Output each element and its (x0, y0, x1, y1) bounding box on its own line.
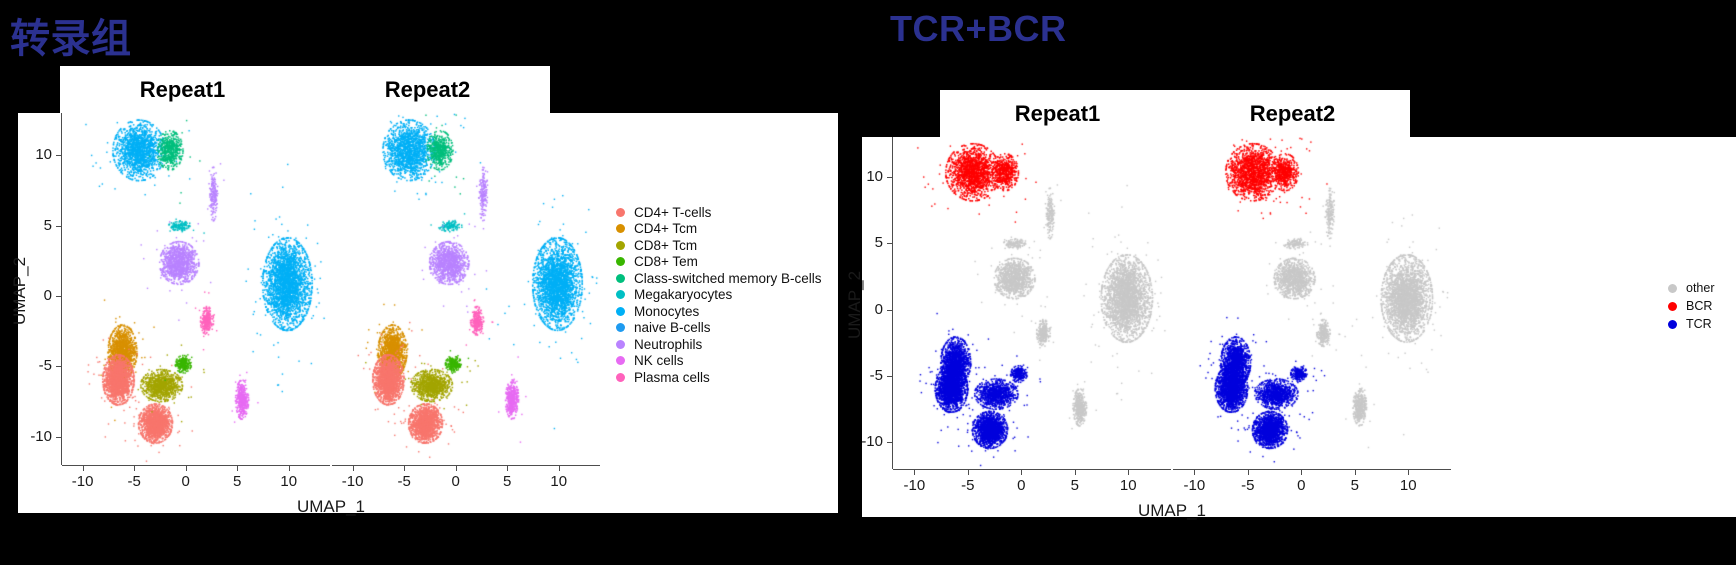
legend-item-label: CD8+ Tcm (634, 238, 697, 253)
y-tick (887, 442, 892, 443)
x-axis-line (1173, 469, 1451, 470)
right-legend: otherBCRTCR (1668, 279, 1715, 333)
y-tick (56, 366, 61, 367)
x-tick (914, 470, 915, 475)
x-tick (404, 466, 405, 471)
umap-plot-left-repeat2 (332, 113, 600, 465)
receptor-legend-item[interactable]: TCR (1668, 315, 1715, 333)
legend-item-label: other (1686, 281, 1715, 295)
x-tick-label: -10 (894, 477, 934, 494)
y-tick-label: -10 (848, 433, 883, 450)
receptor-legend-item[interactable]: BCR (1668, 297, 1715, 315)
celltype-legend-item[interactable]: CD8+ Tem (616, 254, 822, 271)
x-tick-label: 0 (166, 473, 206, 490)
facet-strip-right-repeat1: Repeat1 (940, 90, 1175, 137)
x-tick-label: 5 (487, 473, 527, 490)
legend-item-label: Neutrophils (634, 337, 702, 352)
legend-item-label: Plasma cells (634, 370, 710, 385)
legend-item-label: Megakaryocytes (634, 287, 732, 302)
legend-color-swatch-icon (616, 241, 625, 250)
x-tick (507, 466, 508, 471)
legend-color-swatch-icon (1668, 302, 1677, 311)
x-tick-label: -5 (114, 473, 154, 490)
legend-color-swatch-icon (616, 373, 625, 382)
legend-item-label: CD8+ Tem (634, 254, 698, 269)
y-tick (56, 155, 61, 156)
x-axis-line (893, 469, 1171, 470)
y-tick-label: -10 (14, 428, 52, 445)
x-tick-label: -5 (1228, 477, 1268, 494)
x-tick (134, 466, 135, 471)
x-tick-label: -5 (948, 477, 988, 494)
scatter-canvas (332, 113, 600, 465)
receptor-legend-item[interactable]: other (1668, 279, 1715, 297)
legend-color-swatch-icon (1668, 284, 1677, 293)
celltype-legend-item[interactable]: Class-switched memory B-cells (616, 270, 822, 287)
scatter-canvas (1173, 137, 1451, 469)
y-tick-label: 10 (14, 146, 52, 163)
x-tick-label: -10 (333, 473, 373, 490)
x-tick (1301, 470, 1302, 475)
left-x-axis-title: UMAP_1 (62, 497, 600, 517)
x-axis-line (62, 465, 330, 466)
facet-strip-left-repeat1: Repeat1 (60, 66, 305, 113)
x-tick (1355, 470, 1356, 475)
umap-plot-right-repeat1 (893, 137, 1171, 469)
left-y-axis-title: UMAP_2 (10, 257, 30, 325)
scatter-canvas (62, 113, 330, 465)
legend-color-swatch-icon (616, 224, 625, 233)
legend-item-label: Class-switched memory B-cells (634, 271, 822, 286)
x-tick (968, 470, 969, 475)
celltype-legend-item[interactable]: CD8+ Tcm (616, 237, 822, 254)
x-tick (1194, 470, 1195, 475)
legend-item-label: naive B-cells (634, 320, 711, 335)
y-tick (56, 226, 61, 227)
right-y-axis-title: UMAP_2 (845, 271, 865, 339)
legend-item-label: CD4+ T-cells (634, 205, 711, 220)
facet-strip-left-repeat2: Repeat2 (305, 66, 550, 113)
x-tick-label: 10 (539, 473, 579, 490)
umap-plot-left-repeat1 (62, 113, 330, 465)
legend-item-label: TCR (1686, 317, 1712, 331)
y-tick (887, 376, 892, 377)
page-title-tcr-bcr: TCR+BCR (890, 8, 1067, 50)
legend-color-swatch-icon (1668, 320, 1677, 329)
x-tick (1075, 470, 1076, 475)
celltype-legend-item[interactable]: Monocytes (616, 303, 822, 320)
x-tick (1408, 470, 1409, 475)
x-tick (559, 466, 560, 471)
facet-strip-right-repeat2: Repeat2 (1175, 90, 1410, 137)
y-tick-label: 5 (14, 217, 52, 234)
celltype-legend-item[interactable]: naive B-cells (616, 320, 822, 337)
legend-color-swatch-icon (616, 356, 625, 365)
x-tick-label: 0 (1001, 477, 1041, 494)
x-tick (353, 466, 354, 471)
x-tick-label: 10 (1388, 477, 1428, 494)
y-tick (887, 177, 892, 178)
slide-canvas: 转录组 TCR+BCR Repeat1 Repeat2 -10-50510105… (0, 0, 1736, 565)
x-tick-label: 0 (436, 473, 476, 490)
legend-item-label: Monocytes (634, 304, 699, 319)
legend-color-swatch-icon (616, 340, 625, 349)
right-x-axis-title: UMAP_1 (893, 501, 1451, 521)
legend-item-label: NK cells (634, 353, 684, 368)
x-tick-label: 10 (1108, 477, 1148, 494)
legend-color-swatch-icon (616, 257, 625, 266)
y-tick-label: -5 (848, 367, 883, 384)
y-tick-label: 10 (848, 168, 883, 185)
page-title-transcriptome: 转录组 (10, 6, 132, 64)
y-tick (887, 310, 892, 311)
x-tick-label: 0 (1281, 477, 1321, 494)
y-tick (56, 437, 61, 438)
y-tick (56, 296, 61, 297)
x-tick (1248, 470, 1249, 475)
x-tick (289, 466, 290, 471)
legend-item-label: BCR (1686, 299, 1712, 313)
legend-color-swatch-icon (616, 290, 625, 299)
x-tick-label: -10 (63, 473, 103, 490)
x-tick (1128, 470, 1129, 475)
x-tick-label: 5 (1335, 477, 1375, 494)
y-tick (887, 243, 892, 244)
x-axis-line (332, 465, 600, 466)
legend-color-swatch-icon (616, 307, 625, 316)
x-tick (1021, 470, 1022, 475)
x-tick (456, 466, 457, 471)
celltype-legend-item[interactable]: Megakaryocytes (616, 287, 822, 304)
x-tick (186, 466, 187, 471)
legend-color-swatch-icon (616, 208, 625, 217)
legend-color-swatch-icon (616, 323, 625, 332)
legend-color-swatch-icon (616, 274, 625, 283)
x-tick (237, 466, 238, 471)
x-tick-label: -10 (1174, 477, 1214, 494)
celltype-legend-item[interactable]: CD4+ T-cells (616, 204, 822, 221)
y-axis-line (892, 137, 893, 469)
umap-plot-right-repeat2 (1173, 137, 1451, 469)
scatter-canvas (893, 137, 1171, 469)
x-tick-label: -5 (384, 473, 424, 490)
x-tick (83, 466, 84, 471)
x-tick-label: 5 (1055, 477, 1095, 494)
x-tick-label: 5 (217, 473, 257, 490)
legend-item-label: CD4+ Tcm (634, 221, 697, 236)
x-tick-label: 10 (269, 473, 309, 490)
celltype-legend-item[interactable]: NK cells (616, 353, 822, 370)
celltype-legend-item[interactable]: Plasma cells (616, 369, 822, 386)
celltype-legend-item[interactable]: CD4+ Tcm (616, 221, 822, 238)
y-axis-line (61, 113, 62, 465)
left-legend: CD4+ T-cellsCD4+ TcmCD8+ TcmCD8+ TemClas… (616, 204, 822, 386)
y-tick-label: -5 (14, 357, 52, 374)
celltype-legend-item[interactable]: Neutrophils (616, 336, 822, 353)
y-tick-label: 5 (848, 234, 883, 251)
